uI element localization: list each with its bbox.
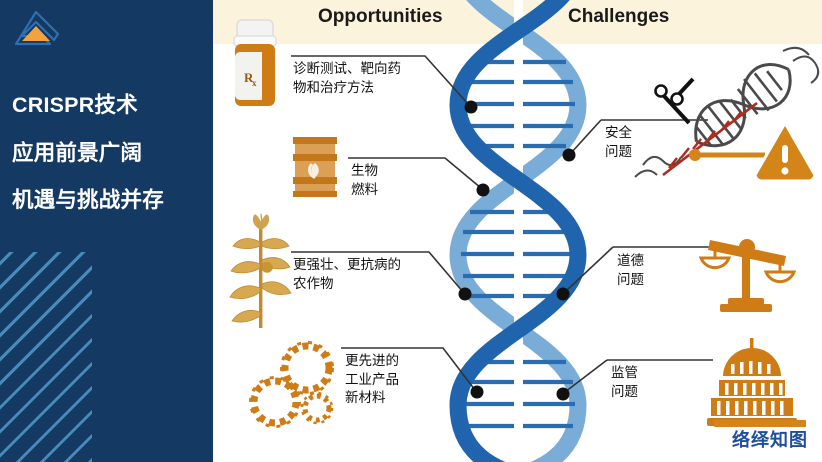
corn-plant-icon — [229, 212, 293, 330]
scales-of-justice-icon — [698, 222, 798, 318]
callout-challenge-1: 安全 问题 — [605, 124, 665, 161]
sidebar: CRISPR技术 应用前景广阔 机遇与挑战并存 — [0, 0, 213, 462]
column-header-opportunities: Opportunities — [318, 6, 443, 28]
brand-line-1: CRISPR技术 — [12, 95, 201, 117]
callout-challenge-2-label: 道德 问题 — [617, 252, 677, 289]
callout-opportunity-4-label: 更先进的 工业产品 新材料 — [345, 352, 425, 408]
callout-challenge-3: 监管 问题 — [611, 364, 671, 401]
svg-text:x: x — [252, 78, 257, 88]
brand-line-2: 应用前景广阔 — [12, 143, 201, 165]
capitol-building-icon — [703, 336, 801, 428]
slide-root: CRISPR技术 应用前景广阔 机遇与挑战并存 Opportunities Ch… — [0, 0, 822, 462]
brand-title: CRISPR技术 应用前景广阔 机遇与挑战并存 — [0, 95, 213, 212]
gears-icon — [245, 336, 343, 436]
callout-challenge-2: 道德 问题 — [617, 252, 677, 289]
brand-line-3: 机遇与挑战并存 — [12, 190, 201, 212]
diagonal-stripes-decoration — [0, 252, 92, 462]
callout-opportunity-2: 生物 燃料 — [351, 162, 421, 199]
callout-opportunity-3: 更强壮、更抗病的 农作物 — [293, 256, 428, 293]
biofuel-barrel-icon — [289, 133, 341, 201]
callout-challenge-1-label: 安全 问题 — [605, 124, 665, 161]
callout-opportunity-2-label: 生物 燃料 — [351, 162, 421, 199]
mountain-peak-logo-icon — [10, 8, 62, 54]
watermark-text: 络绎知图 — [732, 426, 808, 452]
callout-opportunity-1: 诊断测试、靶向药 物和治疗方法 — [293, 60, 425, 97]
callout-opportunity-4: 更先进的 工业产品 新材料 — [345, 352, 425, 408]
dna-double-helix-graphic — [428, 0, 608, 462]
callout-opportunity-3-label: 更强壮、更抗病的 农作物 — [293, 256, 428, 293]
pill-bottle-icon: R x — [227, 18, 283, 110]
content-area: Opportunities Challenges — [213, 0, 822, 462]
callout-opportunity-1-label: 诊断测试、靶向药 物和治疗方法 — [293, 60, 425, 97]
callout-challenge-3-label: 监管 问题 — [611, 364, 671, 401]
dna-scissors-warning-icon — [633, 45, 822, 195]
